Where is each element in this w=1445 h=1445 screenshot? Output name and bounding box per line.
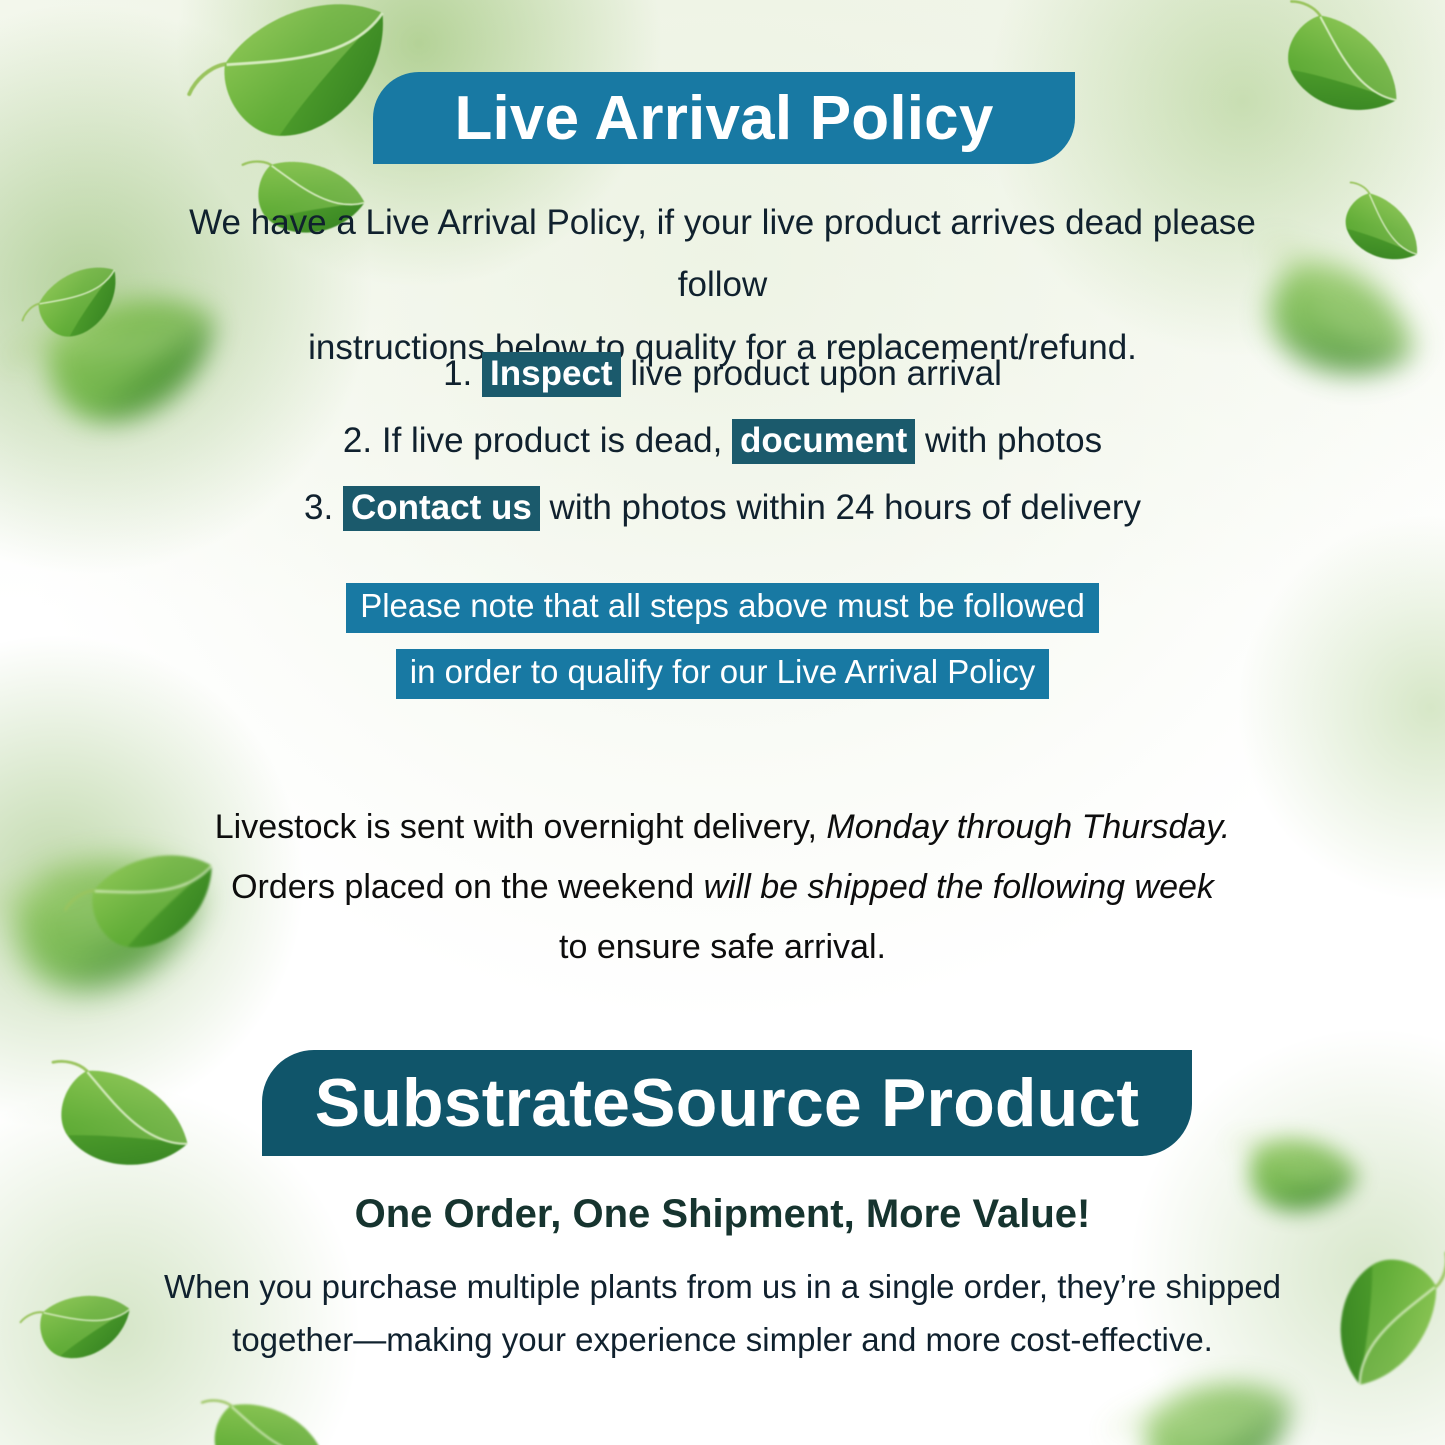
shipping-line-1-italic: Monday through Thursday. bbox=[826, 808, 1230, 846]
shipping-line-2-plain: Orders placed on the weekend bbox=[231, 868, 694, 906]
policy-step-1-keyword: Inspect bbox=[482, 352, 621, 397]
policy-step-2-text: with photos bbox=[925, 421, 1102, 460]
leaf-bottom-center-icon bbox=[173, 1371, 348, 1445]
policy-step-2-number: 2. bbox=[343, 421, 372, 460]
leaf-top-right-a-icon bbox=[1235, 0, 1438, 164]
policy-note-line-1: Please note that all steps above must be… bbox=[346, 583, 1099, 633]
policy-step-3: 3. Contact us with photos within 24 hour… bbox=[0, 486, 1445, 531]
policy-step-1-number: 1. bbox=[443, 354, 472, 393]
leaf-left-bottom-icon bbox=[7, 1025, 225, 1219]
substratesource-product-title: SubstrateSource Product bbox=[315, 1064, 1140, 1142]
live-arrival-policy-page: Live Arrival Policy We have a Live Arriv… bbox=[0, 0, 1445, 1445]
shipping-line-2: Orders placed on the weekend will be shi… bbox=[200, 857, 1245, 917]
policy-step-2-keyword: document bbox=[732, 419, 915, 464]
policy-steps-list: 1. Inspect live product upon arrival 2. … bbox=[0, 352, 1445, 553]
product-subheadline: One Order, One Shipment, More Value! bbox=[0, 1192, 1445, 1237]
policy-note-row-1: Please note that all steps above must be… bbox=[0, 583, 1445, 633]
policy-step-3-keyword: Contact us bbox=[343, 486, 540, 531]
live-arrival-policy-title: Live Arrival Policy bbox=[454, 83, 993, 154]
shipping-line-2-italic: will be shipped the following week bbox=[704, 868, 1214, 906]
policy-intro-line-1: We have a Live Arrival Policy, if your l… bbox=[150, 192, 1295, 317]
shipping-schedule-paragraph: Livestock is sent with overnight deliver… bbox=[0, 797, 1445, 978]
shipping-line-1-plain: Livestock is sent with overnight deliver… bbox=[215, 808, 817, 846]
policy-step-1-text: live product upon arrival bbox=[630, 354, 1002, 393]
policy-intro-paragraph: We have a Live Arrival Policy, if your l… bbox=[0, 192, 1445, 379]
policy-note-block: Please note that all steps above must be… bbox=[0, 583, 1445, 715]
policy-step-3-number: 3. bbox=[304, 488, 333, 527]
live-arrival-policy-banner: Live Arrival Policy bbox=[373, 72, 1075, 164]
product-body-paragraph: When you purchase multiple plants from u… bbox=[0, 1260, 1445, 1367]
policy-step-2: 2. If live product is dead, document wit… bbox=[0, 419, 1445, 464]
policy-note-line-2: in order to qualify for our Live Arrival… bbox=[396, 649, 1049, 699]
substratesource-product-banner: SubstrateSource Product bbox=[262, 1050, 1192, 1156]
policy-step-1: 1. Inspect live product upon arrival bbox=[0, 352, 1445, 397]
product-body-line-2: together—making your experience simpler … bbox=[140, 1313, 1305, 1366]
shipping-line-3: to ensure safe arrival. bbox=[200, 917, 1245, 977]
policy-step-3-text: with photos within 24 hours of delivery bbox=[550, 488, 1141, 527]
shipping-line-1: Livestock is sent with overnight deliver… bbox=[200, 797, 1245, 857]
policy-step-2-prefix: If live product is dead, bbox=[382, 421, 722, 460]
product-body-line-1: When you purchase multiple plants from u… bbox=[140, 1260, 1305, 1313]
policy-note-row-2: in order to qualify for our Live Arrival… bbox=[0, 649, 1445, 699]
